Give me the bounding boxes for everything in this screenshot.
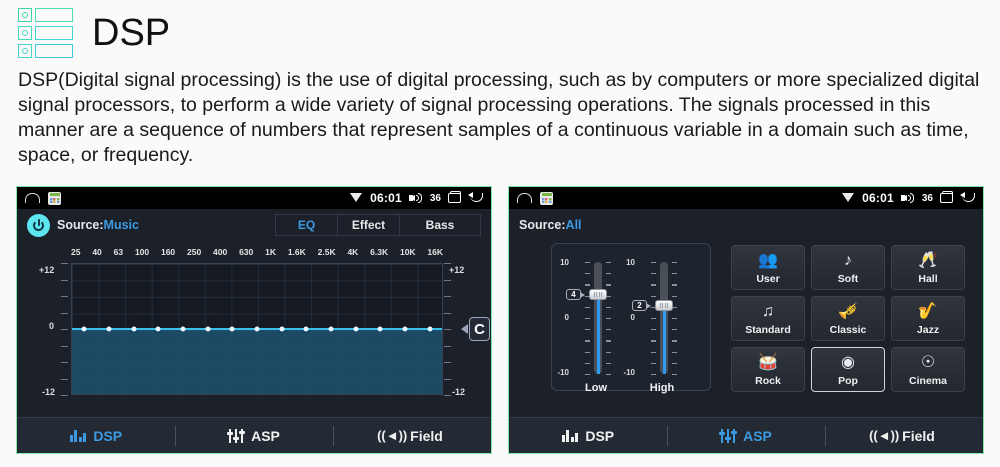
page-title: DSP xyxy=(92,14,170,52)
preset-label: User xyxy=(756,273,779,285)
slider-low[interactable]: 10 0 -10 4 Low xyxy=(566,256,626,392)
source-value-left: Music xyxy=(104,218,139,232)
device-screenshot-left: A-SURE 06:01 36 Source:Music EQ E xyxy=(16,186,492,454)
music-note-icon: ♫ xyxy=(762,302,774,322)
nav-asp-label-right: ASP xyxy=(743,428,772,444)
slider-high-mid: 0 xyxy=(619,313,635,322)
nav-field-label-right: Field xyxy=(902,428,935,444)
sound-field-icon: ((◄)) xyxy=(381,429,403,443)
preset-label: Soft xyxy=(838,273,858,285)
slider-low-ticks-left xyxy=(585,262,590,374)
slider-high-fill xyxy=(663,303,666,374)
frequency-axis-labels: 2540631001602504006301K1.6K2.5K4K6.3K10K… xyxy=(71,247,443,257)
equalizer-chart: 2540631001602504006301K1.6K2.5K4K6.3K10K… xyxy=(17,241,491,421)
nav-dsp-left[interactable]: DSP xyxy=(17,418,175,453)
back-icon[interactable] xyxy=(468,193,483,204)
home-icon[interactable] xyxy=(517,193,532,203)
freq-tick-7: 630 xyxy=(239,247,253,257)
piano-icon: ♪ xyxy=(844,251,852,271)
preset-rock-button[interactable]: 🥁Rock xyxy=(731,347,805,392)
freq-tick-0: 25 xyxy=(71,247,80,257)
freq-tick-4: 160 xyxy=(161,247,175,257)
eq-plot-area[interactable] xyxy=(71,263,443,395)
volume-icon[interactable] xyxy=(901,192,915,204)
slider-high-max: 10 xyxy=(619,258,635,267)
description-paragraph: DSP(Digital signal processing) is the us… xyxy=(18,68,986,168)
preset-standard-button[interactable]: ♫Standard xyxy=(731,296,805,341)
status-time: 06:01 xyxy=(862,191,894,205)
slider-high-value: 2 xyxy=(632,300,647,311)
slider-high-min: -10 xyxy=(619,368,635,377)
y-axis-mid-left: 0 xyxy=(49,321,54,331)
status-bar-left: 06:01 36 xyxy=(17,187,491,209)
eq-band-dot-12[interactable] xyxy=(378,327,383,332)
preset-label: Standard xyxy=(745,324,791,336)
page-header: DSP xyxy=(18,8,170,58)
asp-slider-card: 10 0 -10 4 Low 10 0 -10 2 High xyxy=(551,243,711,391)
reset-button[interactable]: C xyxy=(469,317,490,341)
calculator-icon[interactable] xyxy=(48,192,61,205)
home-icon[interactable] xyxy=(25,193,40,203)
eq-band-dot-11[interactable] xyxy=(353,327,358,332)
vinyl-icon: ◉ xyxy=(841,353,855,373)
tab-eq[interactable]: EQ xyxy=(276,215,338,235)
eq-band-dot-4[interactable] xyxy=(181,327,186,332)
status-bar-right: 06:01 36 xyxy=(509,187,983,209)
slider-high-handle[interactable] xyxy=(655,300,673,311)
volume-level: 36 xyxy=(430,193,441,204)
sound-field-icon: ((◄)) xyxy=(873,429,895,443)
preset-hall-button[interactable]: 🥂Hall xyxy=(891,245,965,290)
preset-label: Rock xyxy=(755,375,781,387)
dsp-list-icon xyxy=(18,8,74,58)
preset-user-button[interactable]: 👥User xyxy=(731,245,805,290)
status-time: 06:01 xyxy=(370,191,402,205)
slider-low-fill xyxy=(597,292,600,374)
nav-asp-right[interactable]: ASP xyxy=(667,418,825,453)
freq-tick-3: 100 xyxy=(135,247,149,257)
people-icon: 👥 xyxy=(758,251,778,271)
eq-fill-area xyxy=(72,329,442,394)
nav-field-right[interactable]: ((◄)) Field xyxy=(825,418,983,453)
nav-dsp-label-right: DSP xyxy=(585,428,614,444)
freq-tick-14: 16K xyxy=(427,247,443,257)
preset-cinema-button[interactable]: ☉Cinema xyxy=(891,347,965,392)
freq-tick-10: 2.5K xyxy=(318,247,336,257)
preset-pop-button[interactable]: ◉Pop xyxy=(811,347,885,392)
nav-dsp-label-left: DSP xyxy=(93,428,122,444)
preset-label: Classic xyxy=(830,324,867,336)
preset-label: Pop xyxy=(838,375,858,387)
freq-tick-12: 6.3K xyxy=(370,247,388,257)
volume-icon[interactable] xyxy=(409,192,423,204)
saxophone-icon: 🎷 xyxy=(918,302,938,322)
eq-band-dot-6[interactable] xyxy=(230,327,235,332)
freq-tick-9: 1.6K xyxy=(288,247,306,257)
tab-bass[interactable]: Bass xyxy=(400,215,480,235)
tab-effect[interactable]: Effect xyxy=(338,215,400,235)
bars-icon xyxy=(562,429,579,442)
source-label-text: Source: xyxy=(519,218,566,232)
nav-asp-label-left: ASP xyxy=(251,428,280,444)
gramophone-icon: 🎺 xyxy=(838,302,858,322)
preset-classic-button[interactable]: 🎺Classic xyxy=(811,296,885,341)
eq-band-dot-5[interactable] xyxy=(205,327,210,332)
slider-high-label: High xyxy=(632,382,692,394)
sliders-icon xyxy=(720,429,736,443)
source-label-text: Source: xyxy=(57,218,104,232)
preset-grid: 👥User♪Soft🥂Hall♫Standard🎺Classic🎷Jazz🥁Ro… xyxy=(731,245,969,393)
page-root: DSP DSP(Digital signal processing) is th… xyxy=(0,0,1000,467)
preset-jazz-button[interactable]: 🎷Jazz xyxy=(891,296,965,341)
slider-high-ticks-left xyxy=(651,262,656,374)
theater-icon: ☉ xyxy=(921,353,935,373)
freq-tick-2: 63 xyxy=(114,247,123,257)
y-axis-bottom-right: -12 xyxy=(452,387,465,397)
eq-band-dot-8[interactable] xyxy=(279,327,284,332)
nav-asp-left[interactable]: ASP xyxy=(175,418,333,453)
source-label-left: Source:Music xyxy=(57,218,139,232)
slider-low-min: -10 xyxy=(553,368,569,377)
slider-low-mid: 0 xyxy=(553,313,569,322)
slider-high-ticks-right xyxy=(672,262,677,374)
eq-band-dot-9[interactable] xyxy=(304,327,309,332)
recents-icon[interactable] xyxy=(940,193,953,203)
eq-band-dot-0[interactable] xyxy=(82,327,87,332)
volume-level: 36 xyxy=(922,193,933,204)
eq-band-dot-7[interactable] xyxy=(255,327,260,332)
bars-icon xyxy=(70,429,87,442)
freq-tick-8: 1K xyxy=(265,247,276,257)
cheers-icon: 🥂 xyxy=(918,251,938,271)
reset-button-tail xyxy=(461,324,468,334)
slider-low-max: 10 xyxy=(553,258,569,267)
source-bar-left: Source:Music EQ Effect Bass xyxy=(17,209,491,241)
eq-tabs: EQ Effect Bass xyxy=(275,214,481,236)
slider-low-track[interactable] xyxy=(594,262,602,374)
eq-band-dot-3[interactable] xyxy=(156,327,161,332)
preset-label: Hall xyxy=(918,273,937,285)
signal-icon xyxy=(841,193,855,203)
nav-field-left[interactable]: ((◄)) Field xyxy=(333,418,491,453)
freq-tick-6: 400 xyxy=(213,247,227,257)
preset-label: Jazz xyxy=(917,324,939,336)
slider-high-track[interactable] xyxy=(660,262,668,374)
recents-icon[interactable] xyxy=(448,193,461,203)
drum-icon: 🥁 xyxy=(758,353,778,373)
slider-high[interactable]: 10 0 -10 2 High xyxy=(632,256,692,392)
slider-low-ticks-right xyxy=(606,262,611,374)
y-ticks-right xyxy=(444,263,451,395)
source-bar-right: Source:All xyxy=(509,209,983,241)
bottom-nav-left: DSP ASP ((◄)) Field xyxy=(17,417,491,453)
power-icon[interactable] xyxy=(27,214,50,237)
slider-low-value: 4 xyxy=(566,289,581,300)
source-label-right: Source:All xyxy=(519,218,582,232)
preset-label: Cinema xyxy=(909,375,947,387)
freq-tick-5: 250 xyxy=(187,247,201,257)
calculator-icon[interactable] xyxy=(540,192,553,205)
sliders-icon xyxy=(228,429,244,443)
freq-tick-11: 4K xyxy=(347,247,358,257)
nav-field-label-left: Field xyxy=(410,428,443,444)
y-axis-top-left: +12 xyxy=(39,265,54,275)
eq-band-dot-1[interactable] xyxy=(107,327,112,332)
eq-band-dot-13[interactable] xyxy=(403,327,408,332)
slider-low-label: Low xyxy=(566,382,626,394)
source-value-right: All xyxy=(566,218,582,232)
slider-low-handle[interactable] xyxy=(589,289,607,300)
eq-band-dot-14[interactable] xyxy=(427,327,432,332)
signal-icon xyxy=(349,193,363,203)
y-axis-bottom-left: -12 xyxy=(42,387,55,397)
y-axis-top-right: +12 xyxy=(449,265,464,275)
bottom-nav-right: DSP ASP ((◄)) Field xyxy=(509,417,983,453)
y-ticks-left xyxy=(61,263,68,395)
eq-band-dot-2[interactable] xyxy=(131,327,136,332)
device-screenshot-right: A-SURE 06:01 36 Source:All 10 xyxy=(508,186,984,454)
back-icon[interactable] xyxy=(960,193,975,204)
eq-band-dot-10[interactable] xyxy=(329,327,334,332)
nav-dsp-right[interactable]: DSP xyxy=(509,418,667,453)
freq-tick-13: 10K xyxy=(400,247,416,257)
preset-soft-button[interactable]: ♪Soft xyxy=(811,245,885,290)
freq-tick-1: 40 xyxy=(92,247,101,257)
